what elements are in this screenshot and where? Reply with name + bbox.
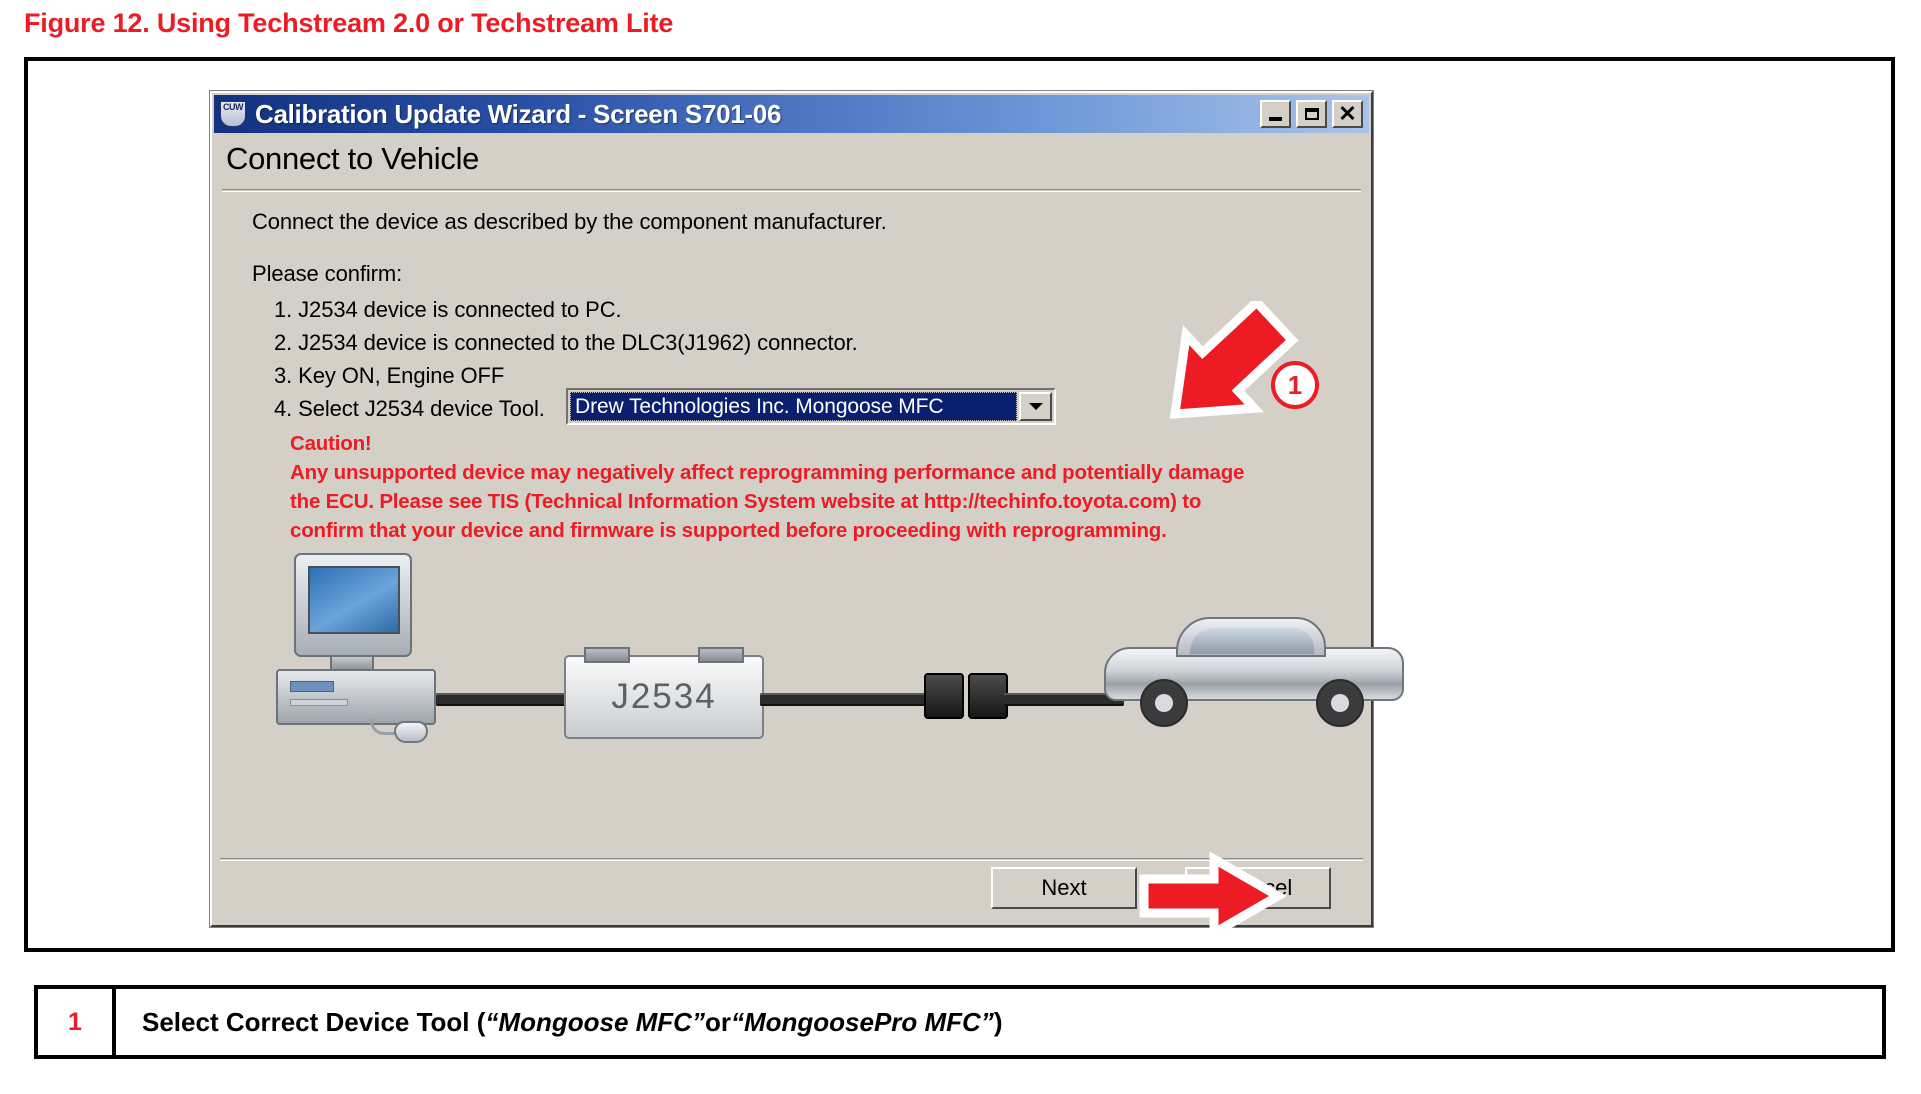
cable-device-to-connector <box>760 693 930 706</box>
caution-line-3: confirm that your device and firmware is… <box>290 516 1350 545</box>
connector-block-left <box>924 673 964 719</box>
j2534-port-left <box>584 647 630 663</box>
dialog-client-area: Connect to Vehicle Connect the device as… <box>214 133 1369 923</box>
cuw-app-icon: CUW <box>220 101 246 127</box>
vehicle-rear-wheel <box>1316 679 1364 727</box>
callout-arrow-to-next-button <box>1136 851 1286 941</box>
window-controls: ✕ <box>1260 100 1363 128</box>
legend-prefix: Select Correct Device Tool ( <box>142 1007 485 1038</box>
chevron-down-icon[interactable] <box>1019 392 1052 421</box>
caution-line-1: Any unsupported device may negatively af… <box>290 458 1350 487</box>
legend-middle: or <box>705 1007 731 1038</box>
j2534-device-icon: J2534 <box>564 655 764 739</box>
pc-tower-drive <box>290 681 334 692</box>
maximize-icon <box>1305 108 1319 120</box>
legend-row-number: 1 <box>38 989 116 1055</box>
pc-mouse-icon <box>394 721 428 743</box>
figure-frame: CUW Calibration Update Wizard - Screen S… <box>24 57 1895 952</box>
minimize-button[interactable] <box>1260 100 1291 128</box>
vehicle-icon <box>1104 609 1414 729</box>
pc-monitor-icon <box>294 553 412 657</box>
legend-quote-1: “Mongoose MFC” <box>485 1007 705 1038</box>
close-button[interactable]: ✕ <box>1332 100 1363 128</box>
vehicle-window <box>1190 628 1314 654</box>
j2534-device-select[interactable]: Drew Technologies Inc. Mongoose MFC <box>566 388 1056 425</box>
j2534-port-right <box>698 647 744 663</box>
next-button[interactable]: Next <box>991 867 1137 909</box>
j2534-device-select-field[interactable]: Drew Technologies Inc. Mongoose MFC <box>570 392 1017 421</box>
connection-diagram: J2534 <box>274 553 1324 753</box>
instruction-text: Connect the device as described by the c… <box>252 209 887 235</box>
vehicle-front-wheel <box>1140 679 1188 727</box>
confirm-label: Please confirm: <box>252 261 402 287</box>
cuw-app-icon-label: CUW <box>223 102 243 112</box>
maximize-button[interactable] <box>1296 100 1327 128</box>
callout-badge-1-label: 1 <box>1288 370 1302 401</box>
window-title: Calibration Update Wizard - Screen S701-… <box>255 99 781 130</box>
j2534-device-label: J2534 <box>611 677 716 717</box>
dlc3-connector-icon <box>924 673 1010 719</box>
window-titlebar[interactable]: CUW Calibration Update Wizard - Screen S… <box>214 95 1369 133</box>
connector-block-right <box>968 673 1008 719</box>
legend-suffix: ) <box>994 1007 1003 1038</box>
j2534-device-select-value: Drew Technologies Inc. Mongoose MFC <box>570 395 943 419</box>
caution-line-2: the ECU. Please see TIS (Technical Infor… <box>290 487 1350 516</box>
calibration-update-wizard-window: CUW Calibration Update Wizard - Screen S… <box>210 91 1373 927</box>
legend-table: 1 Select Correct Device Tool ( “Mongoose… <box>34 985 1886 1059</box>
close-icon: ✕ <box>1338 103 1356 125</box>
pc-tower-icon <box>276 669 436 725</box>
legend-row-text: Select Correct Device Tool ( “Mongoose M… <box>116 989 1882 1055</box>
callout-badge-1: 1 <box>1271 361 1319 409</box>
list-item: 1. J2534 device is connected to PC. <box>274 293 858 326</box>
legend-quote-2: “MongoosePro MFC” <box>731 1007 994 1038</box>
minimize-icon <box>1269 117 1282 121</box>
pc-tower-slot <box>290 699 348 706</box>
section-divider <box>222 189 1361 192</box>
page-title: Connect to Vehicle <box>226 141 1357 177</box>
figure-title: Figure 12. Using Techstream 2.0 or Techs… <box>24 8 673 39</box>
chevron-down-glyph <box>1029 403 1043 410</box>
cable-pc-to-device <box>436 693 571 706</box>
pc-monitor-screen <box>308 566 400 634</box>
list-item: 2. J2534 device is connected to the DLC3… <box>274 326 858 359</box>
caution-block: Caution! Any unsupported device may nega… <box>290 429 1350 545</box>
vehicle-cabin <box>1176 617 1326 657</box>
